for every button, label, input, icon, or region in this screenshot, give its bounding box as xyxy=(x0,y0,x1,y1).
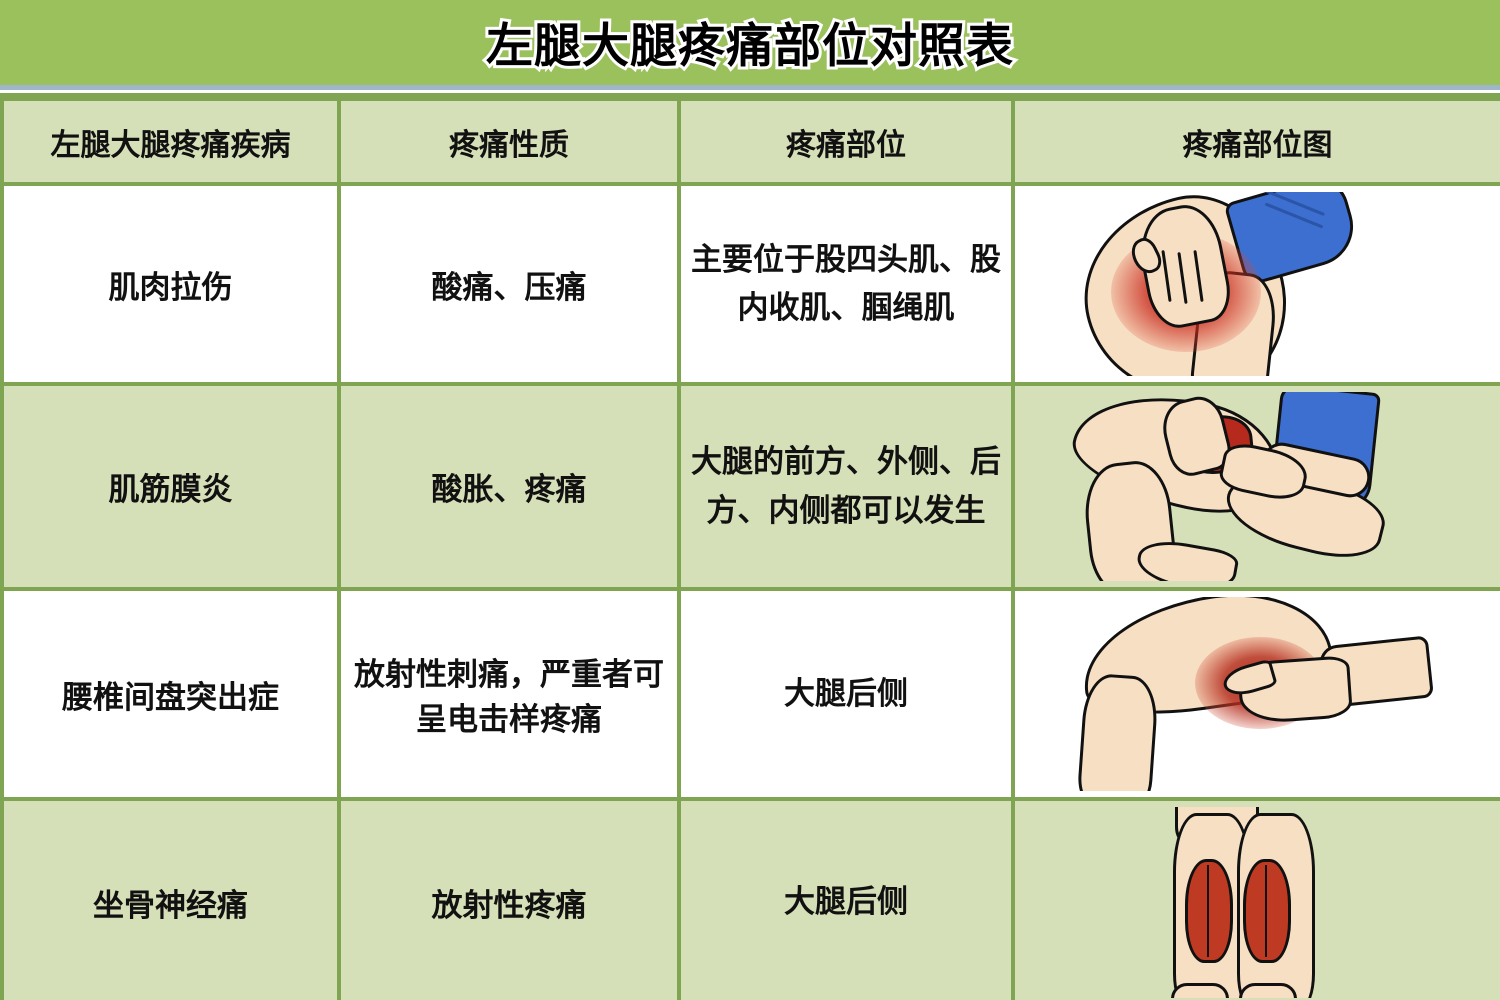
hamstring-icon xyxy=(1243,859,1291,963)
hamstring-icon xyxy=(1185,859,1233,963)
cell-location: 大腿后侧 xyxy=(679,589,1013,799)
table-header: 左腿大腿疼痛疾病 疼痛性质 疼痛部位 疼痛部位图 xyxy=(2,99,1500,184)
table-row: 肌筋膜炎 酸胀、疼痛 大腿的前方、外侧、后方、内侧都可以发生 xyxy=(2,384,1500,589)
column-header-location: 疼痛部位 xyxy=(679,99,1013,184)
table-header-row: 左腿大腿疼痛疾病 疼痛性质 疼痛部位 疼痛部位图 xyxy=(2,99,1500,184)
illustration-myofascitis xyxy=(1025,392,1490,581)
banner-accent-strip xyxy=(0,85,1500,90)
table-body: 肌肉拉伤 酸痛、压痛 主要位于股四头肌、股内收肌、腘绳肌 xyxy=(2,184,1500,1000)
cell-disease: 腰椎间盘突出症 xyxy=(2,589,339,799)
cell-quality: 放射性疼痛 xyxy=(339,799,679,1000)
table-wrapper: 左腿大腿疼痛疾病 疼痛性质 疼痛部位 疼痛部位图 肌肉拉伤 酸痛、压痛 主要位于… xyxy=(0,93,1500,1000)
illustration-muscle-strain xyxy=(1025,192,1490,376)
cell-location: 大腿后侧 xyxy=(679,799,1013,1000)
cell-disease: 肌肉拉伤 xyxy=(2,184,339,384)
table-row: 肌肉拉伤 酸痛、压痛 主要位于股四头肌、股内收肌、腘绳肌 xyxy=(2,184,1500,384)
foot-icon xyxy=(1239,983,1297,998)
column-header-quality: 疼痛性质 xyxy=(339,99,679,184)
muscle-line-icon xyxy=(1207,865,1209,957)
cell-location: 主要位于股四头肌、股内收肌、腘绳肌 xyxy=(679,184,1013,384)
cell-quality: 放射性刺痛，严重者可呈电击样疼痛 xyxy=(339,589,679,799)
cell-figure xyxy=(1013,589,1500,799)
cell-disease: 肌筋膜炎 xyxy=(2,384,339,589)
cell-disease: 坐骨神经痛 xyxy=(2,799,339,1000)
illustration-sciatica xyxy=(1025,807,1490,998)
cell-figure xyxy=(1013,184,1500,384)
cell-quality: 酸痛、压痛 xyxy=(339,184,679,384)
table-row: 腰椎间盘突出症 放射性刺痛，严重者可呈电击样疼痛 大腿后侧 xyxy=(2,589,1500,799)
illustration-lumbar-disc-herniation xyxy=(1025,597,1490,791)
cell-quality: 酸胀、疼痛 xyxy=(339,384,679,589)
title-banner: 左腿大腿疼痛部位对照表 xyxy=(0,0,1500,90)
cell-figure xyxy=(1013,384,1500,589)
pain-comparison-table: 左腿大腿疼痛疾病 疼痛性质 疼痛部位 疼痛部位图 肌肉拉伤 酸痛、压痛 主要位于… xyxy=(0,97,1500,1000)
cell-location: 大腿的前方、外侧、后方、内侧都可以发生 xyxy=(679,384,1013,589)
cell-figure xyxy=(1013,799,1500,1000)
page-title: 左腿大腿疼痛部位对照表 xyxy=(486,22,1014,69)
table-row: 坐骨神经痛 放射性疼痛 大腿后侧 xyxy=(2,799,1500,1000)
column-header-disease: 左腿大腿疼痛疾病 xyxy=(2,99,339,184)
foot-icon xyxy=(1171,983,1229,998)
muscle-line-icon xyxy=(1265,865,1267,957)
column-header-figure: 疼痛部位图 xyxy=(1013,99,1500,184)
pain-comparison-table-page: 左腿大腿疼痛部位对照表 左腿大腿疼痛疾病 疼痛性质 疼痛部位 疼痛部位图 肌肉拉… xyxy=(0,0,1500,1000)
